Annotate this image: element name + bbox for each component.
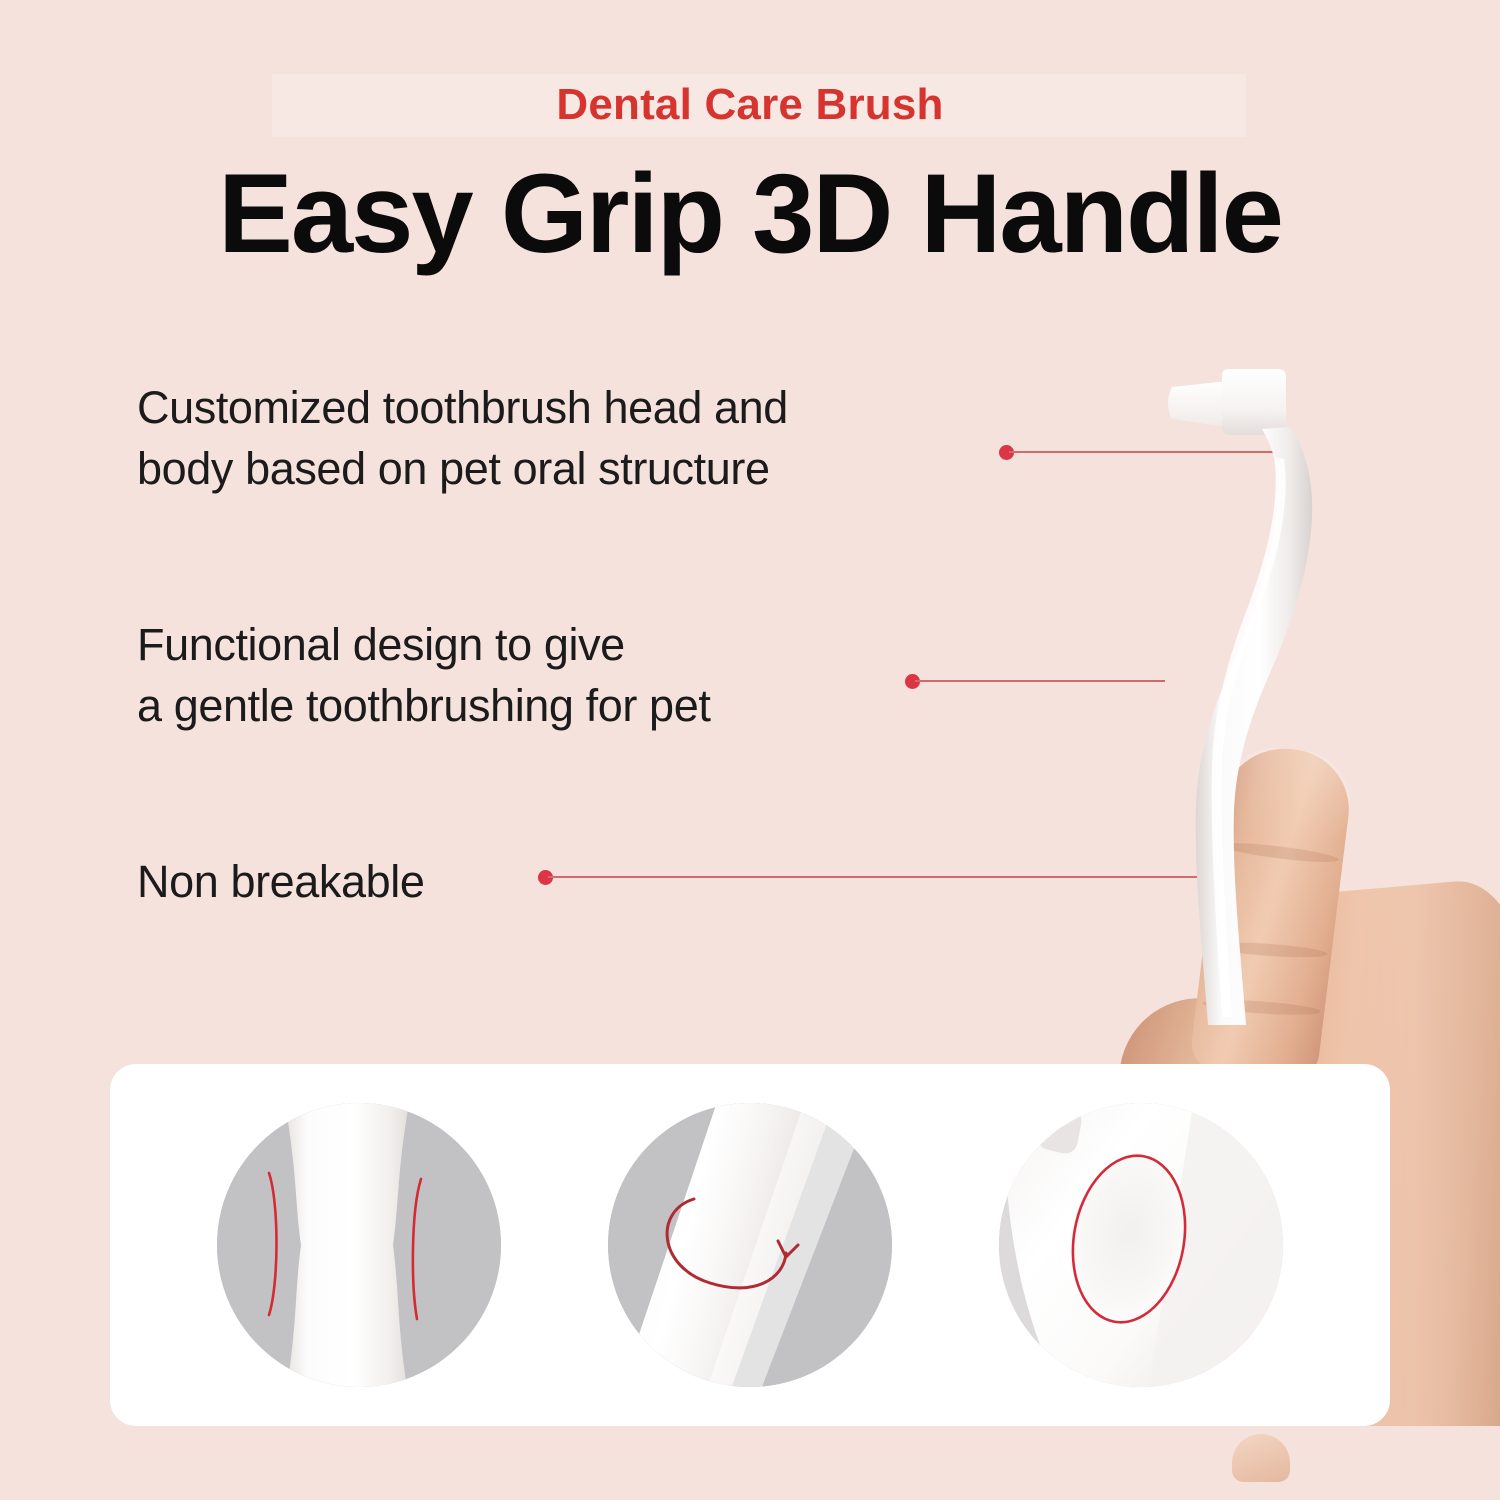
detail-circle-rotation-arrow [608,1103,892,1387]
detail-circle-thumb-rest [999,1103,1283,1387]
handle-shaft-closeup [285,1103,409,1387]
hanging-hole [1036,1111,1081,1153]
eyebrow-title: Dental Care Brush [0,72,1500,138]
feature-text-non-breakable: Non breakable [137,851,425,912]
feature-text-functional-design: Functional design to give a gentle tooth… [137,614,710,736]
brush-head [1222,369,1286,435]
product-infographic: Dental Care Brush Easy Grip 3D Handle Cu… [0,0,1500,1500]
connector-rule [548,876,1210,878]
page-title: Easy Grip 3D Handle [0,155,1500,273]
brush-handle [1196,427,1313,1025]
connector-rule [915,680,1165,682]
toothbrush-product-image [1150,365,1350,1085]
feature-text-customized-head: Customized toothbrush head and body base… [137,377,788,499]
handle-highlight [1212,457,1286,1017]
detail-circle-row [110,1064,1390,1426]
detail-card [110,1064,1390,1426]
detail-circle-contoured-grip [217,1103,501,1387]
brush-bristles [1168,381,1228,427]
